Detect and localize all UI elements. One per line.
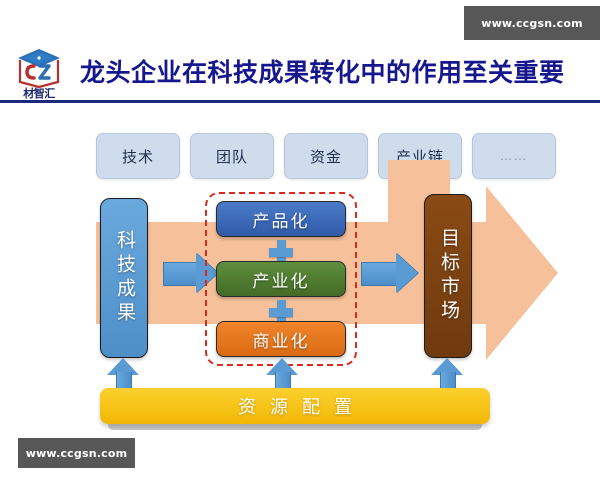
title-divider bbox=[0, 100, 600, 103]
flow-horizontal-arrowhead bbox=[486, 186, 558, 360]
brand-logo: 材智汇 bbox=[10, 48, 68, 102]
source-box-sci-tech-achievement[interactable]: 科技成果 bbox=[100, 198, 148, 358]
resource-box-ellipsis[interactable]: …… bbox=[472, 133, 556, 179]
watermark-top-right: www.ccgsn.com bbox=[464, 6, 600, 40]
resource-box-capital[interactable]: 资金 bbox=[284, 133, 368, 179]
page-title: 龙头企业在科技成果转化中的作用至关重要 bbox=[80, 53, 580, 93]
resource-allocation-bar[interactable]: 资源配置 bbox=[100, 388, 490, 424]
arrow-head bbox=[396, 253, 418, 293]
resource-box-team[interactable]: 团队 bbox=[190, 133, 274, 179]
slide-canvas: www.ccgsn.com 材智汇 龙头企业在科技成果转化中的作用至关重要 技术… bbox=[0, 0, 600, 480]
resource-bar-shadow bbox=[108, 424, 482, 430]
arrow-shaft bbox=[361, 262, 398, 286]
phase-box-commercialization[interactable]: 商业化 bbox=[216, 321, 346, 357]
brand-logo-text: 材智汇 bbox=[10, 85, 68, 101]
arrow-shaft bbox=[163, 262, 198, 286]
source-box-label: 科技成果 bbox=[114, 230, 134, 326]
arrow-phases-to-target bbox=[361, 253, 419, 293]
target-box-label: 目标市场 bbox=[438, 228, 458, 324]
resource-box-technology[interactable]: 技术 bbox=[96, 133, 180, 179]
phase-box-industrialization[interactable]: 产业化 bbox=[216, 261, 346, 297]
cube-logo-icon bbox=[16, 48, 62, 88]
target-box-market[interactable]: 目标市场 bbox=[424, 194, 472, 358]
phase-box-productization[interactable]: 产品化 bbox=[216, 201, 346, 237]
slide-header: 材智汇 龙头企业在科技成果转化中的作用至关重要 bbox=[0, 46, 600, 102]
watermark-bottom-left: www.ccgsn.com bbox=[18, 438, 135, 468]
